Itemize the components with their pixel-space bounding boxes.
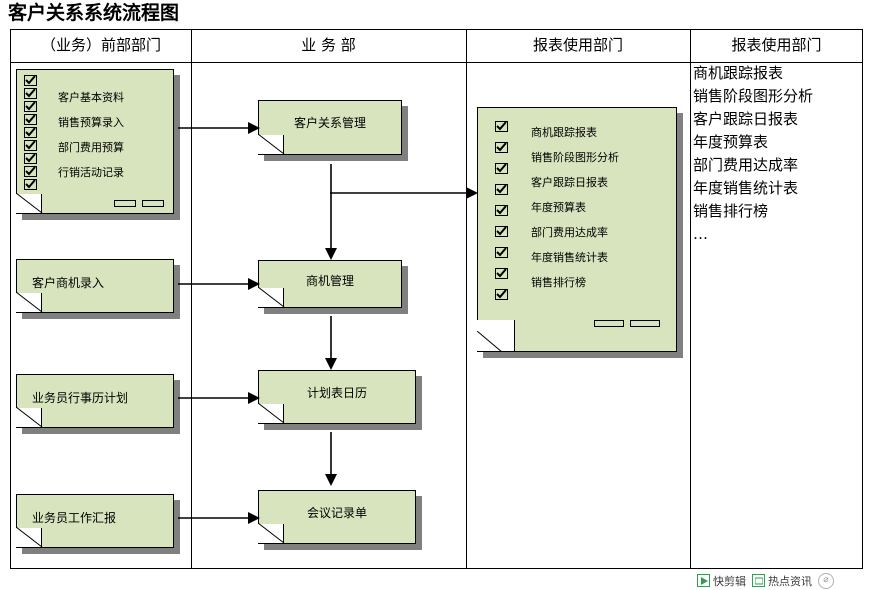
hot-news-label: 热点资讯 (768, 573, 812, 589)
check-icon (495, 142, 508, 153)
doc-item: 部门费用达成率 (531, 227, 608, 239)
doc-item: 客户基本资料 (58, 92, 124, 104)
check-icon (495, 121, 508, 132)
check-icon (495, 184, 508, 195)
doc-fold-line (16, 193, 43, 214)
doc-label: 客户商机录入 (32, 276, 104, 290)
connector-arrow-8 (178, 510, 262, 526)
report-list-item: 商机跟踪报表 (693, 62, 863, 85)
more-options-icon[interactable]: ⌀ (818, 573, 834, 589)
report-list-item: 销售阶段图形分析 (693, 85, 863, 108)
opportunity-entry-doc[interactable]: 客户商机录入 (16, 259, 174, 313)
salesperson-work-report-doc[interactable]: 业务员工作汇报 (16, 494, 174, 548)
connector-arrow-2 (322, 164, 340, 262)
report-list-item: 部门费用达成率 (693, 154, 863, 177)
check-icon (24, 179, 37, 190)
report-list-item: … (693, 223, 863, 246)
checkbox-column (24, 75, 37, 192)
report-list-item: 客户跟踪日报表 (693, 108, 863, 131)
doc-item: 部门费用预算 (58, 142, 124, 154)
column-header-1: （业务）前部部门 (11, 29, 191, 61)
schedule-calendar-doc[interactable]: 计划表日历 (258, 370, 416, 424)
check-icon (24, 75, 37, 86)
doc-item: 年度预算表 (531, 202, 586, 214)
doc-fold-line (258, 287, 285, 308)
doc-mini-button[interactable] (594, 320, 624, 327)
check-icon (495, 289, 508, 300)
doc-fold-line (16, 292, 43, 313)
report-list-item: 销售排行榜 (693, 200, 863, 223)
connector-arrow-3 (330, 185, 480, 201)
doc-item: 商机跟踪报表 (531, 127, 597, 139)
connector-arrow-7 (322, 432, 340, 488)
doc-fold-line (16, 527, 43, 548)
doc-fold-line (477, 331, 504, 352)
customer-master-doc[interactable]: 客户基本资料 销售预算录入 部门费用预算 行销活动记录 (16, 69, 174, 214)
doc-label: 计划表日历 (258, 386, 416, 400)
doc-item: 销售排行榜 (531, 277, 586, 289)
doc-item: 行销活动记录 (58, 167, 124, 179)
doc-fold-line (258, 523, 285, 544)
check-icon (24, 166, 37, 177)
report-list-item: 年度预算表 (693, 131, 863, 154)
doc-fold-line (258, 134, 285, 155)
report-text-list: 商机跟踪报表 销售阶段图形分析 客户跟踪日报表 年度预算表 部门费用达成率 年度… (693, 62, 863, 246)
connector-arrow-6 (178, 390, 262, 406)
salesperson-calendar-plan-doc[interactable]: 业务员行事历计划 (16, 374, 174, 428)
doc-label: 业务员工作汇报 (32, 511, 116, 525)
doc-label: 客户关系管理 (258, 116, 402, 130)
check-icon (24, 127, 37, 138)
doc-label: 商机管理 (258, 274, 402, 288)
doc-fold-line (258, 403, 285, 424)
check-icon (495, 163, 508, 174)
column-divider-3 (690, 30, 691, 568)
check-icon (495, 226, 508, 237)
diagram-page: 客户关系系统流程图 （业务）前部部门 业 务 部 报表使用部门 报表使用部门 客… (0, 0, 891, 590)
connector-arrow-4 (178, 276, 262, 292)
doc-item: 客户跟踪日报表 (531, 177, 608, 189)
bottom-widget-bar: 快剪辑 热点资讯 ⌀ (697, 571, 834, 590)
connector-arrow-5 (322, 316, 340, 372)
check-icon (24, 88, 37, 99)
check-icon (495, 268, 508, 279)
doc-label: 业务员行事历计划 (32, 391, 128, 405)
report-list-item: 年度销售统计表 (693, 177, 863, 200)
news-icon (752, 574, 765, 587)
doc-mini-button[interactable] (630, 320, 660, 327)
check-icon (495, 247, 508, 258)
doc-mini-button[interactable] (114, 200, 136, 207)
check-icon (24, 101, 37, 112)
crm-doc[interactable]: 客户关系管理 (258, 100, 402, 155)
reports-doc[interactable]: 商机跟踪报表 销售阶段图形分析 客户跟踪日报表 年度预算表 部门费用达成率 年度… (477, 107, 677, 352)
connector-arrow-1 (178, 120, 262, 136)
column-divider-2 (466, 30, 467, 568)
doc-mini-button[interactable] (142, 200, 164, 207)
check-icon (495, 205, 508, 216)
column-header-4: 报表使用部门 (690, 29, 863, 61)
doc-item: 销售预算录入 (58, 117, 124, 129)
meeting-minutes-doc[interactable]: 会议记录单 (258, 490, 416, 544)
doc-item: 年度销售统计表 (531, 252, 608, 264)
page-title: 客户关系系统流程图 (8, 0, 179, 26)
column-header-3: 报表使用部门 (466, 29, 690, 61)
quick-edit-label: 快剪辑 (713, 573, 746, 589)
check-icon (24, 140, 37, 151)
doc-fold-line (16, 407, 43, 428)
hot-news-widget[interactable]: 热点资讯 (752, 573, 812, 589)
doc-item: 销售阶段图形分析 (531, 152, 619, 164)
opportunity-mgmt-doc[interactable]: 商机管理 (258, 260, 402, 308)
checkbox-column (495, 121, 508, 302)
check-icon (24, 153, 37, 164)
quick-edit-widget[interactable]: 快剪辑 (697, 573, 746, 589)
doc-label: 会议记录单 (258, 506, 416, 520)
play-icon (697, 574, 710, 587)
column-header-2: 业 务 部 (191, 29, 466, 61)
check-icon (24, 114, 37, 125)
column-divider-1 (191, 30, 192, 568)
